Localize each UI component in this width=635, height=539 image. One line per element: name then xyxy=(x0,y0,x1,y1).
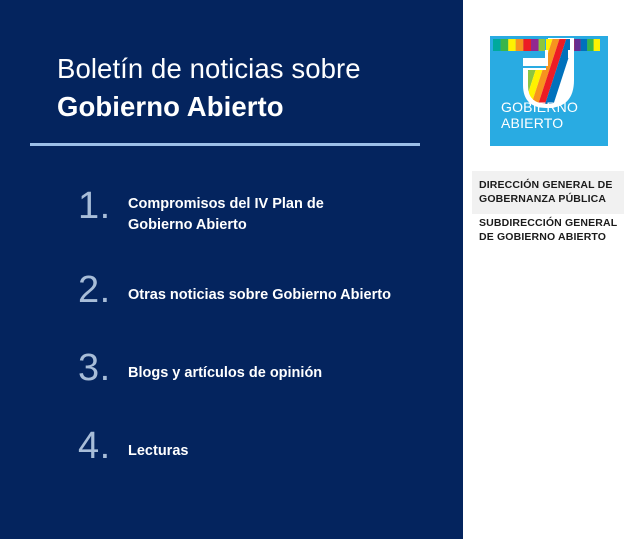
title-divider xyxy=(30,143,420,146)
page-title-line-2: Gobierno Abierto xyxy=(57,88,437,126)
caption-line: SUBDIRECCIÓN GENERAL xyxy=(479,216,629,230)
list-item-label-line: Compromisos del IV Plan de xyxy=(128,194,324,215)
list-item-label: Blogs y artículos de opinión xyxy=(128,348,322,384)
logo-wordmark-line-1: GOBIERNO xyxy=(501,100,578,116)
logo-left-colorbars xyxy=(493,39,546,51)
list-item-number: 4. xyxy=(78,426,124,466)
list-item[interactable]: 2. Otras noticias sobre Gobierno Abierto xyxy=(0,270,463,314)
caption-line: DE GOBIERNO ABIERTO xyxy=(479,230,629,244)
list-item-label-line: Otras noticias sobre Gobierno Abierto xyxy=(128,285,391,306)
list-item[interactable]: 1. Compromisos del IV Plan de Gobierno A… xyxy=(0,186,463,236)
list-item-number: 1. xyxy=(78,186,124,226)
page-title-line-1: Boletín de noticias sobre xyxy=(57,50,437,88)
caption-line: GOBERNANZA PÚBLICA xyxy=(479,192,617,206)
caption-line: DIRECCIÓN GENERAL DE xyxy=(479,178,617,192)
table-of-contents-list: 1. Compromisos del IV Plan de Gobierno A… xyxy=(0,186,463,470)
list-item-number: 2. xyxy=(78,270,124,310)
list-item-label: Otras noticias sobre Gobierno Abierto xyxy=(128,270,391,306)
list-item-label: Lecturas xyxy=(128,426,188,462)
list-item[interactable]: 3. Blogs y artículos de opinión xyxy=(0,348,463,392)
logo-wordmark-line-2: ABIERTO xyxy=(501,116,578,132)
right-branding-panel: GOBIERNO ABIERTO DIRECCIÓN GENERAL DE GO… xyxy=(463,0,635,539)
list-item-number: 3. xyxy=(78,348,124,388)
department-caption-primary: DIRECCIÓN GENERAL DE GOBERNANZA PÚBLICA xyxy=(472,171,624,214)
list-item-label-line: Gobierno Abierto xyxy=(128,215,324,236)
logo-wordmark: GOBIERNO ABIERTO xyxy=(501,100,578,131)
list-item-label: Compromisos del IV Plan de Gobierno Abie… xyxy=(128,186,324,236)
list-item-label-line: Blogs y artículos de opinión xyxy=(128,363,322,384)
left-dark-panel: Boletín de noticias sobre Gobierno Abier… xyxy=(0,0,463,539)
list-item-label-line: Lecturas xyxy=(128,441,188,462)
department-caption-secondary: SUBDIRECCIÓN GENERAL DE GOBIERNO ABIERTO xyxy=(479,216,629,244)
page-title: Boletín de noticias sobre Gobierno Abier… xyxy=(57,50,437,126)
gobierno-abierto-logo: GOBIERNO ABIERTO xyxy=(490,36,608,146)
list-item[interactable]: 4. Lecturas xyxy=(0,426,463,470)
newsletter-cover-slide: Boletín de noticias sobre Gobierno Abier… xyxy=(0,0,635,539)
